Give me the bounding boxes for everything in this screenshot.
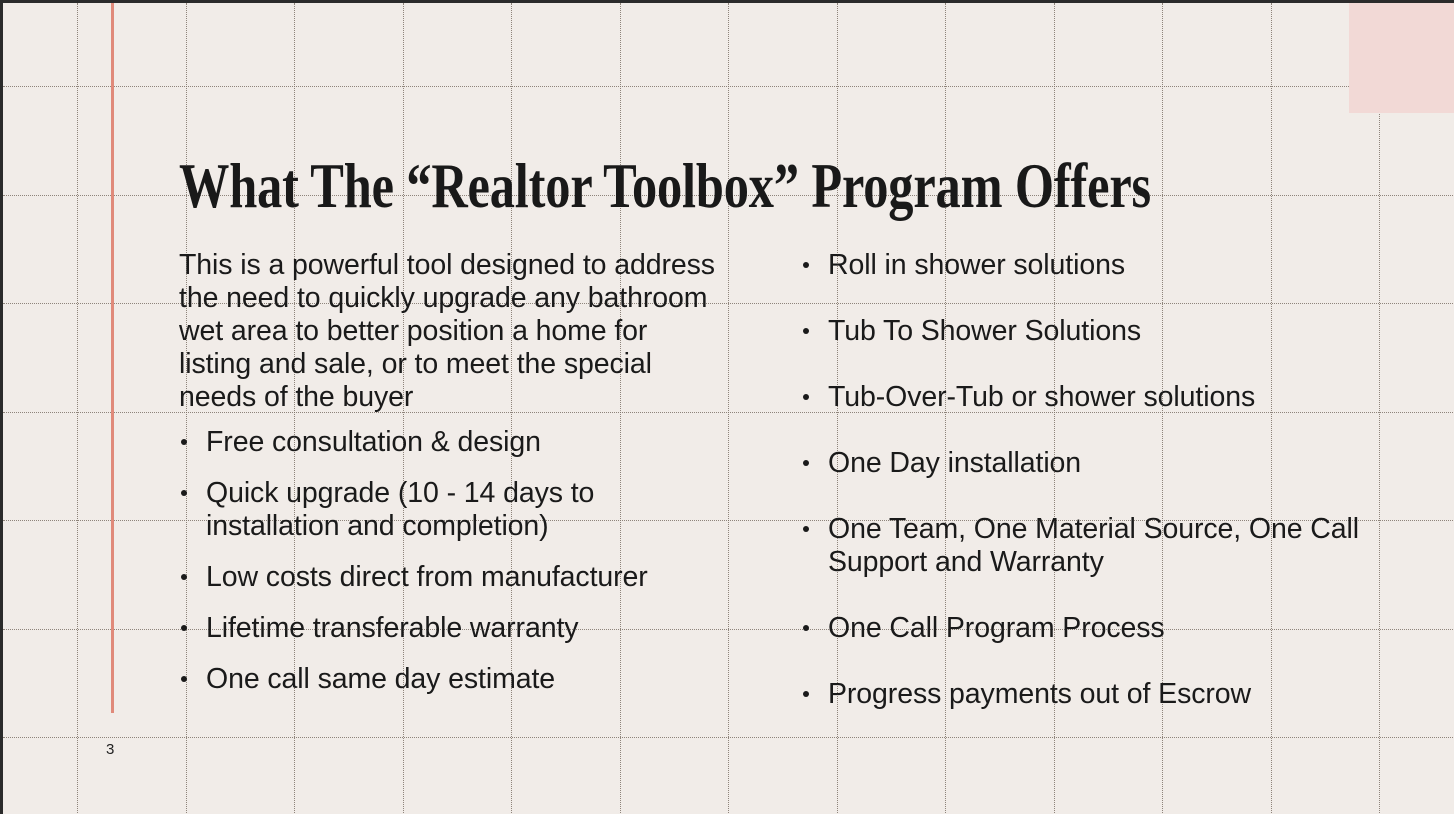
bullet-label: Progress payments out of Escrow (828, 678, 1251, 710)
right-bullet-item: Progress payments out of Escrow (801, 678, 1401, 711)
bullet-label: Free consultation & design (206, 426, 541, 458)
left-bullet-item: Lifetime transferable warranty (179, 612, 719, 645)
page-number: 3 (106, 741, 114, 758)
left-bullet-item: Low costs direct from manufacturer (179, 561, 719, 594)
left-bullet-item: Quick upgrade (10 - 14 days to installat… (179, 477, 719, 543)
bullet-dot-icon (803, 262, 809, 268)
right-bullet-item: Tub-Over-Tub or shower solutions (801, 381, 1401, 414)
left-column: This is a powerful tool designed to addr… (179, 249, 719, 714)
bullet-label: One Call Program Process (828, 612, 1165, 644)
bullet-dot-icon (803, 625, 809, 631)
bullet-dot-icon (181, 625, 187, 631)
bullet-label: One Day installation (828, 447, 1081, 479)
slide-canvas: What The “Realtor Toolbox” Program Offer… (0, 0, 1454, 814)
right-bullet-item: One Call Program Process (801, 612, 1401, 645)
bullet-label: Low costs direct from manufacturer (206, 561, 648, 593)
bullet-dot-icon (803, 691, 809, 697)
bullet-label: One Team, One Material Source, One Call … (828, 513, 1359, 578)
right-bullet-item: One Team, One Material Source, One Call … (801, 513, 1401, 579)
bullet-dot-icon (803, 460, 809, 466)
bullet-dot-icon (181, 439, 187, 445)
right-bullet-list: Roll in shower solutionsTub To Shower So… (801, 249, 1401, 711)
right-bullet-item: One Day installation (801, 447, 1401, 480)
bullet-label: Quick upgrade (10 - 14 days to installat… (206, 477, 594, 542)
slide-content: What The “Realtor Toolbox” Program Offer… (3, 3, 1454, 814)
bullet-dot-icon (803, 328, 809, 334)
bullet-dot-icon (803, 526, 809, 532)
bullet-label: Tub-Over-Tub or shower solutions (828, 381, 1255, 413)
intro-paragraph: This is a powerful tool designed to addr… (179, 249, 719, 414)
bullet-label: One call same day estimate (206, 663, 555, 695)
bullet-label: Roll in shower solutions (828, 249, 1125, 281)
bullet-label: Lifetime transferable warranty (206, 612, 578, 644)
bullet-dot-icon (181, 676, 187, 682)
right-column: Roll in shower solutionsTub To Shower So… (801, 249, 1401, 744)
page-title: What The “Realtor Toolbox” Program Offer… (179, 149, 1107, 223)
left-bullet-list: Free consultation & designQuick upgrade … (179, 426, 719, 696)
left-bullet-item: One call same day estimate (179, 663, 719, 696)
right-bullet-item: Roll in shower solutions (801, 249, 1401, 282)
bullet-dot-icon (803, 394, 809, 400)
bullet-dot-icon (181, 574, 187, 580)
bullet-label: Tub To Shower Solutions (828, 315, 1141, 347)
left-bullet-item: Free consultation & design (179, 426, 719, 459)
right-bullet-item: Tub To Shower Solutions (801, 315, 1401, 348)
bullet-dot-icon (181, 490, 187, 496)
